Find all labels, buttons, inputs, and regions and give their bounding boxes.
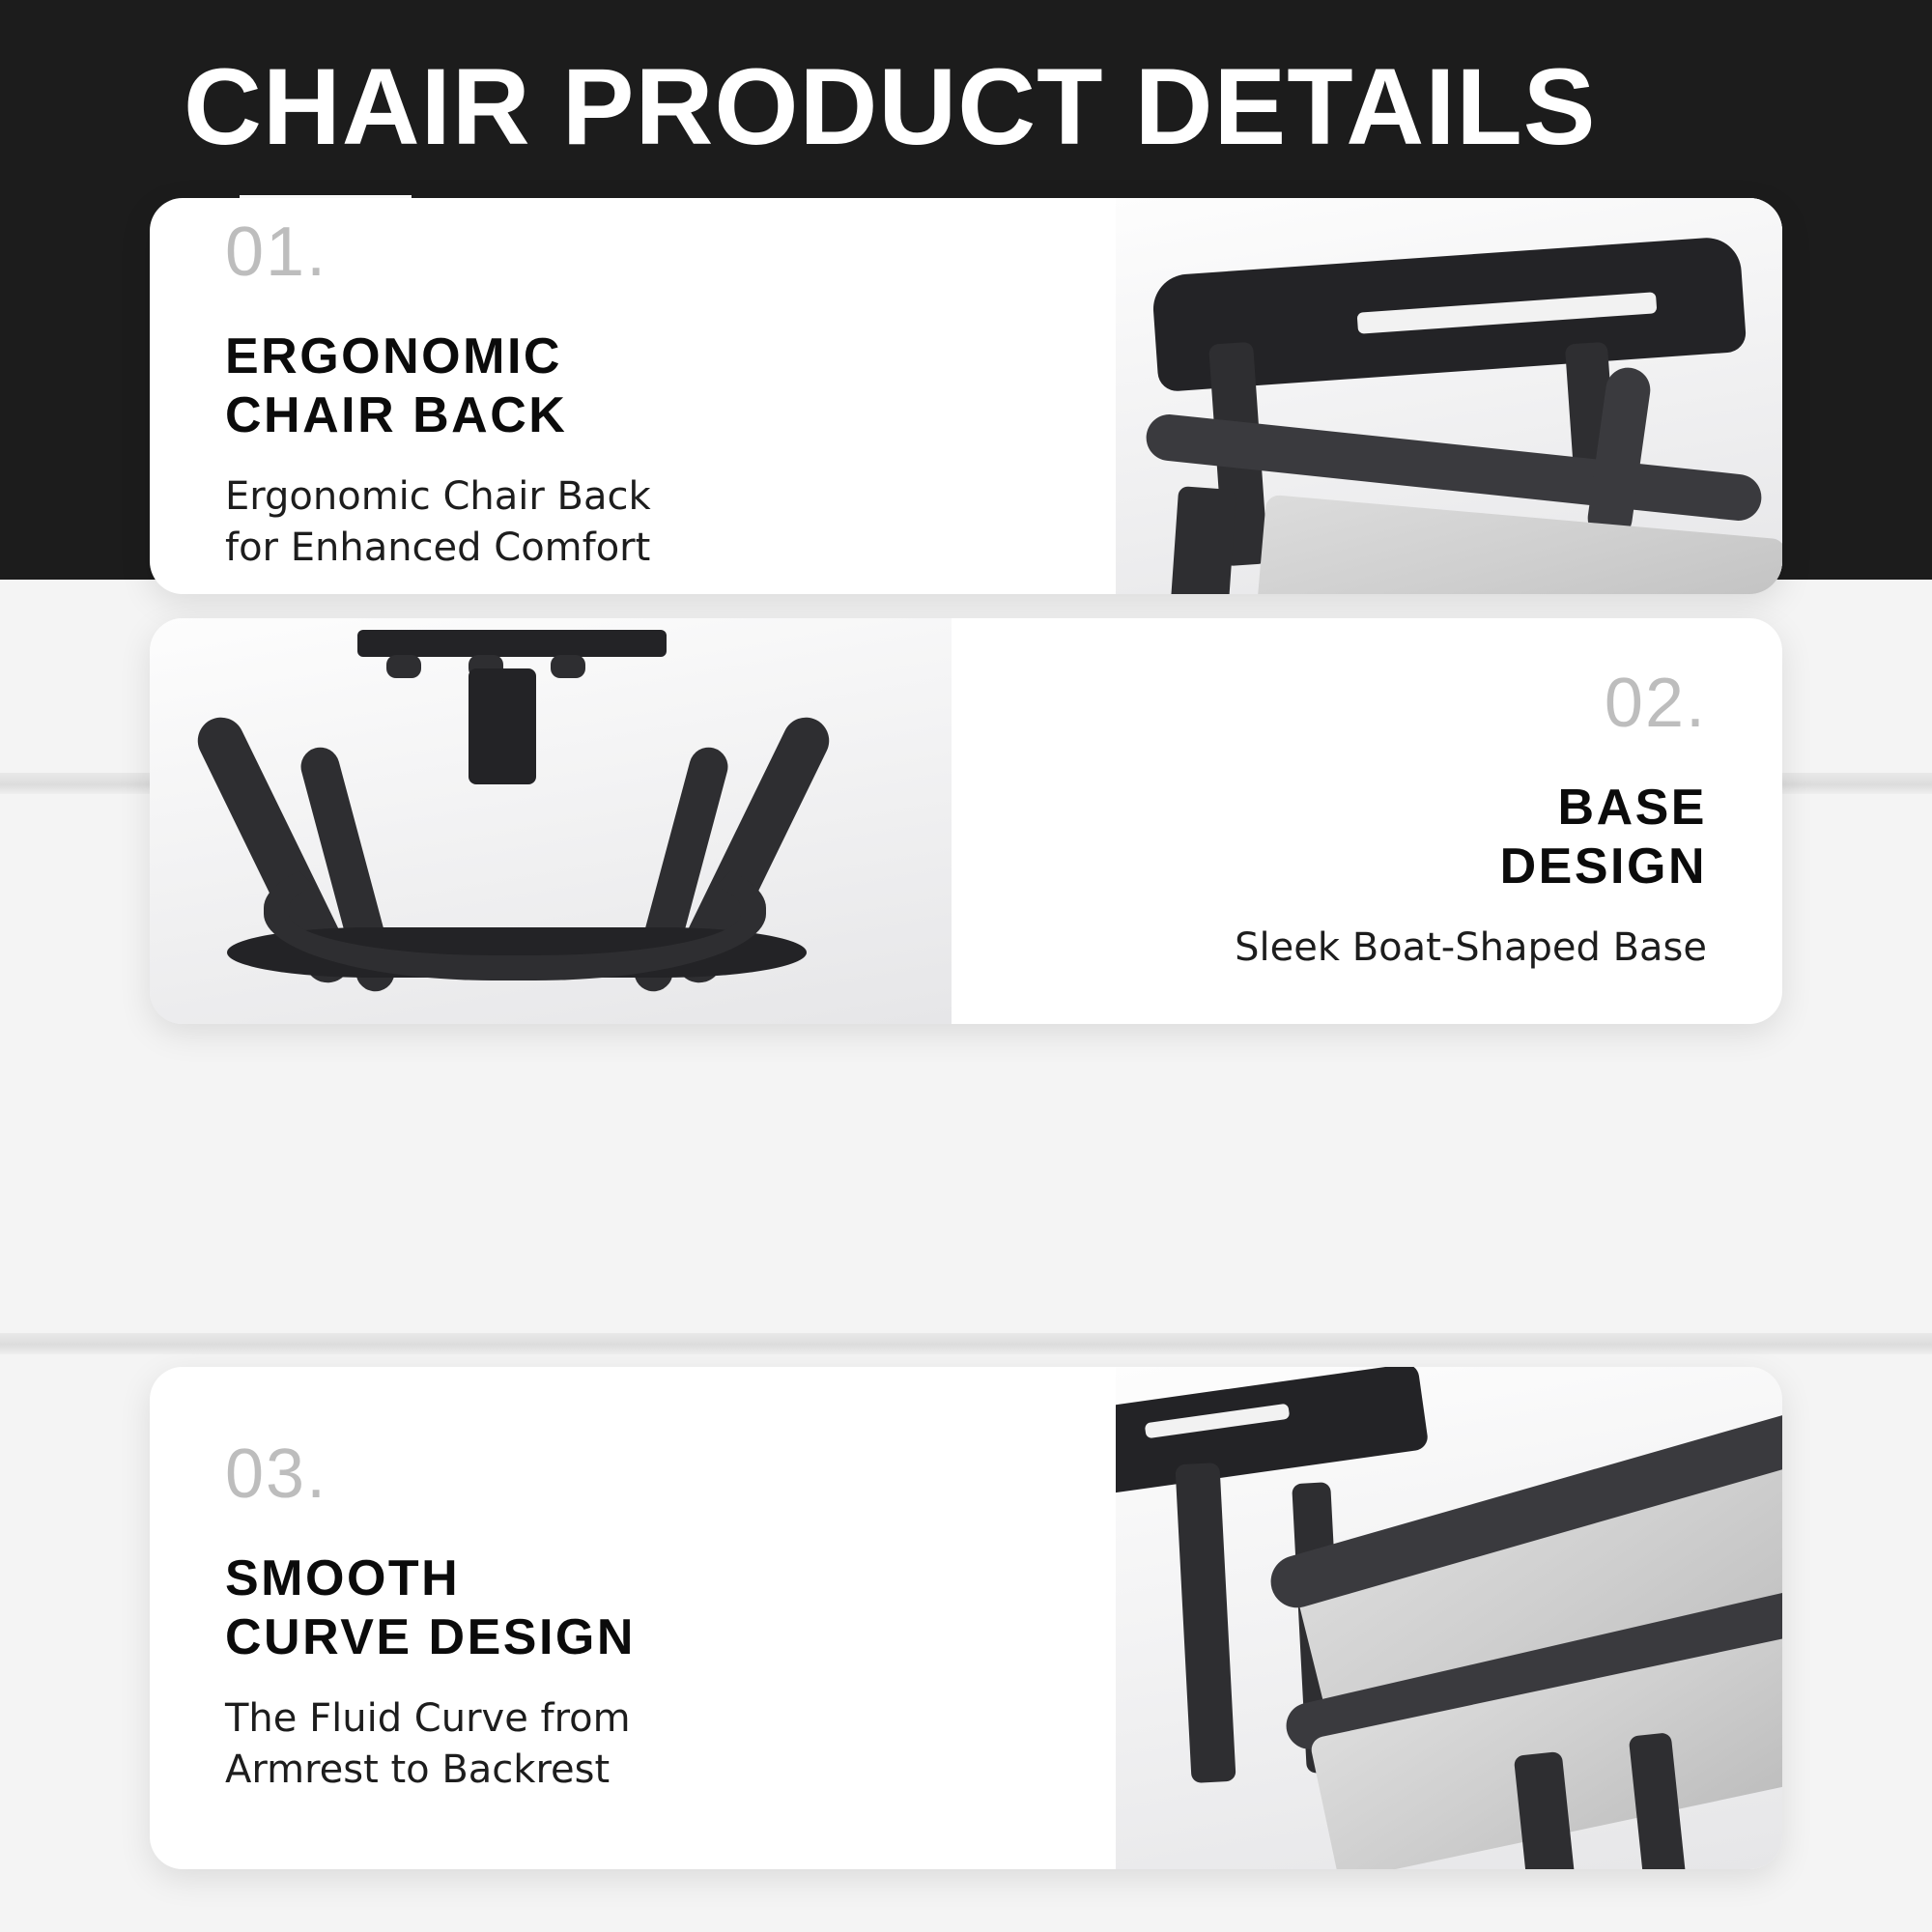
card-3-description: The Fluid Curve from Armrest to Backrest <box>225 1693 631 1797</box>
card-2-heading-line-1: BASE <box>1500 779 1707 838</box>
card-2-heading: BASE DESIGN <box>1500 779 1707 897</box>
infographic-page: CHAIR PRODUCT DETAILS 01. ERGONOMIC CHAI… <box>0 0 1932 1932</box>
card-2-image <box>150 618 952 1024</box>
card-3-heading-line-1: SMOOTH <box>225 1549 636 1608</box>
card-1-description: Ergonomic Chair Back for Enhanced Comfor… <box>225 471 651 575</box>
card-3-number: 03. <box>225 1439 327 1509</box>
card-1-image <box>1116 198 1782 594</box>
card-2-desc-line-1: Sleek Boat-Shaped Base <box>1235 923 1707 975</box>
card-2-text-pane: 02. BASE DESIGN Sleek Boat-Shaped Base <box>952 618 1782 1024</box>
detail-card-3[interactable]: 03. SMOOTH CURVE DESIGN The Fluid Curve … <box>150 1367 1782 1869</box>
card-1-desc-line-1: Ergonomic Chair Back <box>225 471 651 524</box>
card-3-image <box>1116 1367 1782 1869</box>
detail-card-2[interactable]: 02. BASE DESIGN Sleek Boat-Shaped Base <box>150 618 1782 1024</box>
card-2-heading-line-2: DESIGN <box>1500 838 1707 896</box>
card-1-text-pane: 01. ERGONOMIC CHAIR BACK Ergonomic Chair… <box>150 198 1116 594</box>
card-3-desc-line-1: The Fluid Curve from <box>225 1693 631 1746</box>
card-3-heading-line-2: CURVE DESIGN <box>225 1608 636 1667</box>
card-2-number: 02. <box>1605 668 1707 738</box>
detail-card-1[interactable]: 01. ERGONOMIC CHAIR BACK Ergonomic Chair… <box>150 198 1782 594</box>
card-1-desc-line-2: for Enhanced Comfort <box>225 523 651 575</box>
card-1-number: 01. <box>225 217 327 287</box>
row-divider-2 <box>0 1333 1932 1354</box>
page-title: CHAIR PRODUCT DETAILS <box>184 53 1826 161</box>
card-1-heading: ERGONOMIC CHAIR BACK <box>225 327 567 446</box>
card-3-heading: SMOOTH CURVE DESIGN <box>225 1549 636 1668</box>
card-3-desc-line-2: Armrest to Backrest <box>225 1745 631 1797</box>
card-2-description: Sleek Boat-Shaped Base <box>1235 923 1707 975</box>
card-3-text-pane: 03. SMOOTH CURVE DESIGN The Fluid Curve … <box>150 1367 1116 1869</box>
card-1-heading-line-1: ERGONOMIC <box>225 327 567 386</box>
card-1-heading-line-2: CHAIR BACK <box>225 386 567 445</box>
